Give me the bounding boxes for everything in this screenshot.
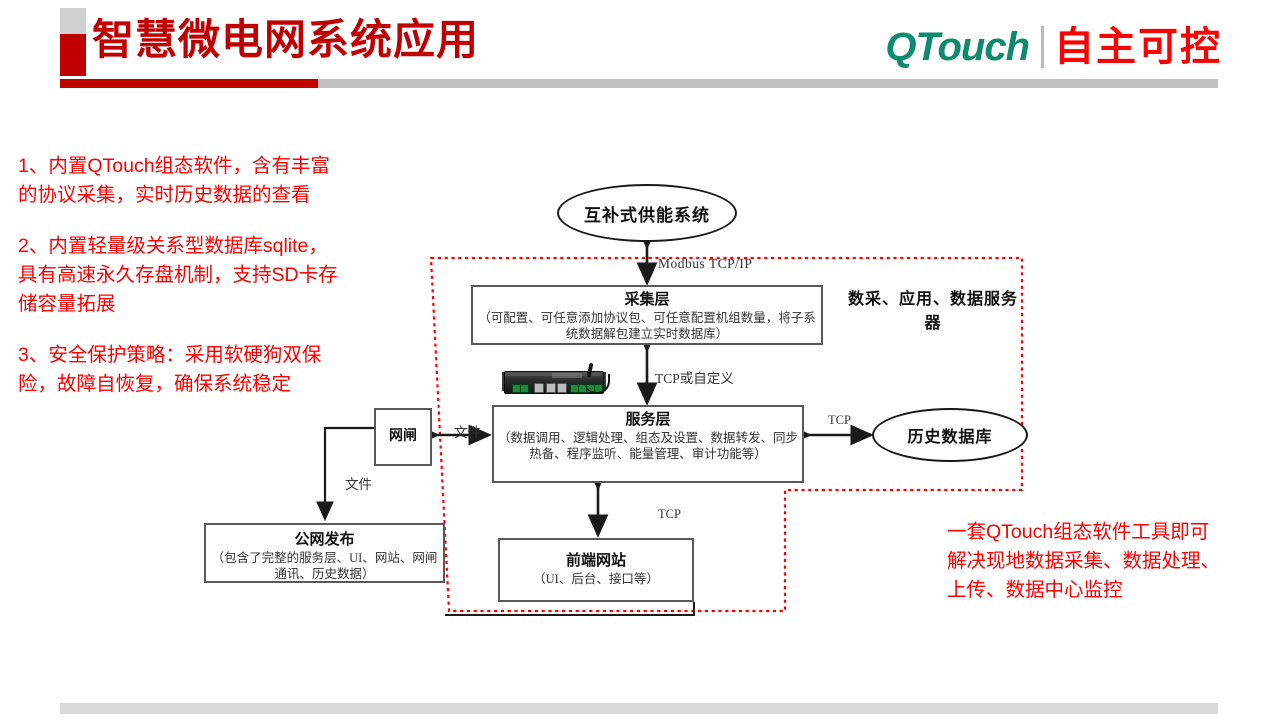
node-front-site-desc: （UI、后台、接口等） — [500, 571, 692, 587]
node-energy-system: 互补式供能系统 — [557, 184, 737, 242]
node-service-layer-title: 服务层 — [494, 411, 802, 430]
node-public-release-desc: （包含了完整的服务层、UI、网站、网闸通讯、历史数据） — [206, 550, 443, 582]
header-mark-grey — [60, 8, 86, 34]
device-label-strip — [552, 373, 582, 378]
node-collect-layer-desc: （可配置、可任意添加协议包、可任意配置机组数量，将子系统数据解包建立实时数据库） — [473, 310, 821, 342]
node-front-site-title: 前端网站 — [500, 552, 692, 571]
gateway-device-image: 工控网关设备 — [502, 363, 614, 397]
device-antenna-cable — [584, 374, 610, 394]
edge-label-modbus: Modbus TCP/IP — [658, 256, 752, 272]
edge-label-file-gateway: 文件 — [454, 421, 481, 441]
node-collect-layer-title: 采集层 — [473, 291, 821, 310]
edge-label-tcp-custom: TCP或自定义 — [655, 367, 734, 387]
node-public-release-title: 公网发布 — [206, 531, 443, 550]
node-gateway: 网闸 — [374, 408, 432, 466]
node-collect-layer: 采集层 （可配置、可任意添加协议包、可任意配置机组数量，将子系统数据解包建立实时… — [471, 285, 823, 345]
header-mark-red — [60, 34, 86, 76]
device-terminal-2 — [520, 384, 529, 393]
header-rule-grey — [318, 79, 1218, 88]
node-history-db: 历史数据库 — [872, 408, 1028, 462]
header-rule-red — [60, 79, 318, 88]
node-energy-system-label: 互补式供能系统 — [584, 201, 710, 226]
page-title: 智慧微电网系统应用 — [92, 12, 479, 68]
device-serial-port — [534, 383, 544, 393]
logo-brand-text: QTouch — [885, 25, 1029, 69]
slide: 智慧微电网系统应用 QTouch 自主可控 1、内置QTouch组态软件，含有丰… — [0, 0, 1280, 720]
edge-label-tcp-front: TCP — [658, 507, 681, 522]
device-ethernet-2 — [557, 383, 567, 393]
node-history-db-label: 历史数据库 — [907, 423, 992, 447]
node-server-group-label: 数采、应用、数据服务器 — [848, 288, 1018, 336]
edge-label-tcp-db: TCP — [828, 413, 851, 428]
brand-logo: QTouch 自主可控 — [885, 22, 1222, 72]
logo-slogan-text: 自主可控 — [1054, 25, 1222, 69]
node-service-layer-desc: （数据调用、逻辑处理、组态及设置、数据转发、同步热备、程序监听、能量管理、审计功… — [494, 430, 802, 462]
logo-divider — [1041, 26, 1044, 68]
edge-label-file-public: 文件 — [345, 473, 372, 493]
node-public-release: 公网发布 （包含了完整的服务层、UI、网站、网闸通讯、历史数据） — [204, 523, 445, 583]
edge-front-public — [445, 602, 694, 615]
footer-bar — [60, 703, 1218, 714]
device-ethernet-1 — [546, 383, 556, 393]
node-gateway-label: 网闸 — [389, 428, 417, 446]
node-front-site: 前端网站 （UI、后台、接口等） — [498, 538, 694, 602]
architecture-diagram: 互补式供能系统 Modbus TCP/IP 采集层 （可配置、可任意添加协议包、… — [180, 160, 1280, 640]
node-service-layer: 服务层 （数据调用、逻辑处理、组态及设置、数据转发、同步热备、程序监听、能量管理… — [492, 405, 804, 483]
